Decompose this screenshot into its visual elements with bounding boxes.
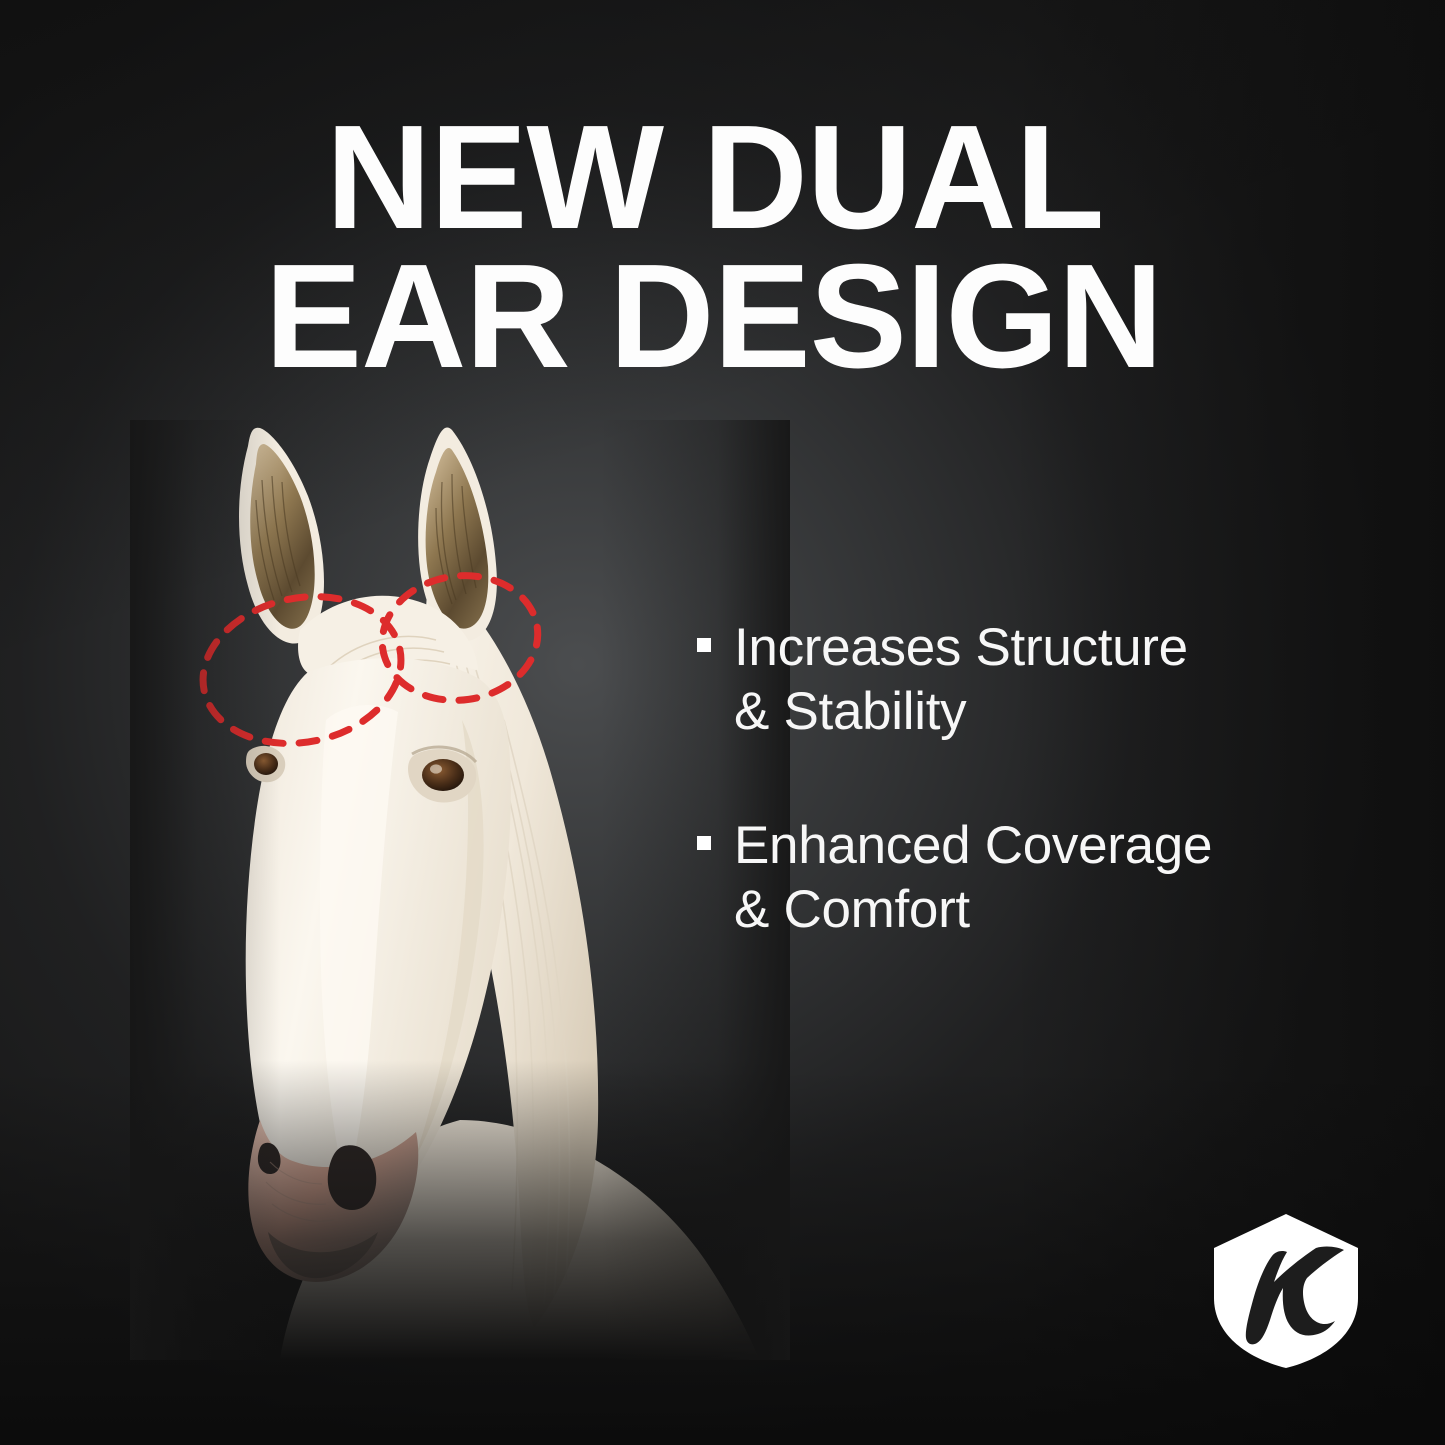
photo-fade-left	[130, 420, 280, 1360]
feature-2-line-1: Enhanced Coverage	[734, 816, 1212, 875]
brand-logo	[1208, 1212, 1364, 1370]
feature-text: Increases Structure & Stability	[734, 616, 1188, 744]
headline-line-1: NEW DUAL	[320, 108, 1315, 247]
page-title: NEW DUAL EAR DESIGN	[320, 108, 1315, 386]
list-item: Increases Structure & Stability	[697, 616, 1357, 744]
feature-2-line-2: & Comfort	[734, 880, 970, 939]
feature-1-line-1: Increases Structure	[734, 618, 1188, 677]
feature-text: Enhanced Coverage & Comfort	[734, 814, 1212, 942]
square-bullet-icon	[697, 638, 711, 652]
list-item: Enhanced Coverage & Comfort	[697, 814, 1357, 942]
square-bullet-icon	[697, 836, 711, 850]
feature-list: Increases Structure & Stability Enhanced…	[697, 616, 1357, 943]
promo-graphic: NEW DUAL EAR DESIGN	[0, 0, 1445, 1445]
headline-line-2: EAR DESIGN	[265, 247, 1315, 386]
feature-1-line-2: & Stability	[734, 682, 966, 741]
horse-photo	[130, 420, 790, 1360]
